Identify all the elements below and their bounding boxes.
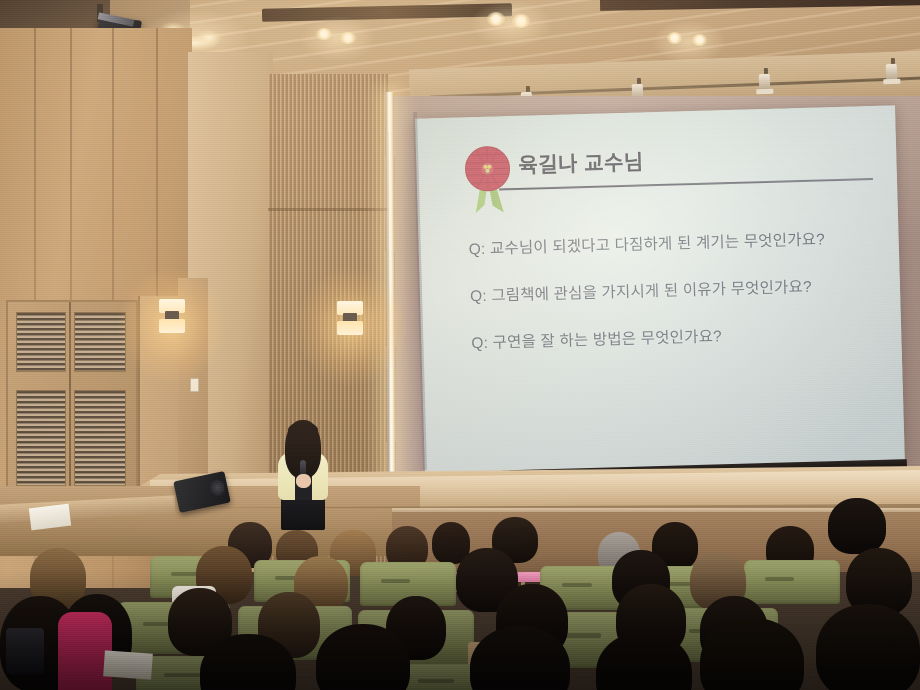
downlight xyxy=(487,12,505,26)
audience-head xyxy=(700,618,804,690)
track-light xyxy=(886,64,898,80)
downlight xyxy=(316,28,332,40)
downlight xyxy=(692,34,707,46)
door-center-split xyxy=(69,302,71,510)
audience-notebook xyxy=(103,650,153,679)
wall-sconce-left xyxy=(157,296,187,336)
screen-light-vignette xyxy=(415,105,905,476)
wall-sconce-right xyxy=(335,298,365,338)
audience-head xyxy=(828,498,886,554)
auditorium-photo: 육길나 교수님 Q: 교수님이 되겠다고 다짐하게 된 계기는 무엇인가요? Q… xyxy=(0,0,920,690)
downlight xyxy=(667,32,682,44)
audience-head xyxy=(816,604,920,690)
downlight xyxy=(340,32,356,44)
track-light xyxy=(759,74,771,90)
audience-bag xyxy=(6,628,44,674)
projection-screen: 육길나 교수님 Q: 교수님이 되겠다고 다짐하게 된 계기는 무엇인가요? Q… xyxy=(415,105,905,476)
downlight xyxy=(512,14,530,28)
auditorium-seat xyxy=(744,560,840,604)
slat-wall-seam xyxy=(268,208,388,211)
presenter-with-microphone xyxy=(272,418,334,528)
